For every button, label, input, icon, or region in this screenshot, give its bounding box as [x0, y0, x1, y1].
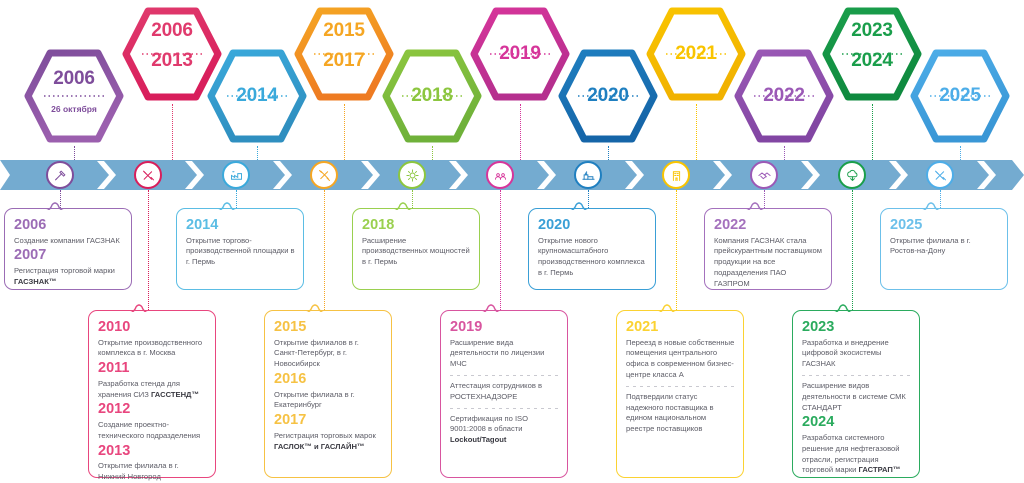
hexagon-outline	[650, 11, 742, 97]
card-2018[interactable]: 2018Расширение производственных мощносте…	[352, 208, 480, 290]
card-2014[interactable]: 2014Открытие торгово-производственной пл…	[176, 208, 304, 290]
card-year: 2007	[14, 247, 123, 264]
hexagon-2006[interactable]: 200626 октября	[22, 46, 126, 146]
card-text: Открытие филиала в г. Ростов-на-Дону	[890, 236, 999, 258]
card-notch	[744, 202, 766, 210]
card-year: 2025	[890, 217, 999, 234]
card-text: Разработка системного решение для нефтег…	[802, 433, 911, 476]
card-text: Подтвердили статус надежного поставщика …	[626, 392, 735, 435]
card-year: 2022	[714, 217, 823, 234]
card-year: 2014	[186, 217, 295, 234]
card-2010[interactable]: 2010Открытие производственного комплекса…	[88, 310, 216, 478]
connector-node-to-card	[500, 190, 501, 310]
node-2021[interactable]	[662, 161, 690, 189]
card-notch	[480, 304, 502, 312]
card-text: Расширение видов деятельности в системе …	[802, 381, 911, 413]
card-year: 2006	[14, 217, 123, 234]
hexagon-outline	[562, 53, 654, 139]
card-year: 2019	[450, 319, 559, 336]
card-year: 2018	[362, 217, 471, 234]
handshake-icon	[757, 168, 772, 183]
plant-icon	[581, 168, 596, 183]
card-text: Сертификация по ISO 9001:2008 в области …	[450, 414, 559, 446]
card-2025[interactable]: 2025Открытие филиала в г. Ростов-на-Дону	[880, 208, 1008, 290]
people-icon	[493, 168, 508, 183]
card-text: Создание компании ГАСЗНАК	[14, 236, 123, 247]
wrench-icon	[317, 168, 332, 183]
card-year: 2011	[98, 360, 207, 377]
card-2006[interactable]: 2006Создание компании ГАСЗНАК2007Регистр…	[4, 208, 132, 290]
card-divider	[450, 375, 559, 376]
hexagon-outline	[386, 53, 478, 139]
card-year: 2017	[274, 412, 383, 429]
card-notch	[304, 304, 326, 312]
node-2018[interactable]	[398, 161, 426, 189]
card-year: 2012	[98, 401, 207, 418]
connector-node-to-card	[852, 190, 853, 310]
node-2022[interactable]	[750, 161, 778, 189]
card-text: Разработка стенда для хранения СИЗ ГАССТ…	[98, 379, 207, 401]
card-year: 2015	[274, 319, 383, 336]
node-2014[interactable]	[222, 161, 250, 189]
card-year: 2016	[274, 371, 383, 388]
hexagon-outline	[211, 53, 303, 139]
card-notch	[392, 202, 414, 210]
tools-icon	[141, 168, 156, 183]
tools2-icon	[933, 168, 948, 183]
hexagon-2025[interactable]: 2025	[908, 46, 1012, 146]
card-text: Регистрация торговых марок ГАСЛОК™ и ГАС…	[274, 431, 383, 453]
card-year: 2021	[626, 319, 735, 336]
card-2023[interactable]: 2023Разработка и внедрение цифровой экос…	[792, 310, 920, 478]
connector-hex-to-node	[257, 146, 258, 160]
hammer-icon	[53, 168, 68, 183]
card-text: Открытие филиала в г. Екатеринбург	[274, 390, 383, 412]
hexagon-outline	[298, 11, 390, 97]
card-2015[interactable]: 2015Открытие филиалов в г. Санкт-Петербу…	[264, 310, 392, 478]
node-2023[interactable]	[838, 161, 866, 189]
node-2025[interactable]	[926, 161, 954, 189]
card-text: Расширение производственных мощностей в …	[362, 236, 471, 268]
hexagon-outline	[738, 53, 830, 139]
node-2015[interactable]	[310, 161, 338, 189]
card-notch	[44, 202, 66, 210]
card-divider	[802, 375, 911, 376]
factory-icon	[229, 168, 244, 183]
card-text: Разработка и внедрение цифровой экосисте…	[802, 338, 911, 370]
card-notch	[832, 304, 854, 312]
timeline-infographic: 200626 октября20062013201420152017201820…	[0, 0, 1024, 483]
card-text: Компания ГАСЗНАК стала прейскурантным по…	[714, 236, 823, 290]
connector-hex-to-node	[520, 104, 521, 160]
card-divider	[450, 408, 559, 409]
connector-hex-to-node	[172, 104, 173, 160]
card-year: 2013	[98, 443, 207, 460]
gear-icon	[405, 168, 420, 183]
connector-hex-to-node	[784, 146, 785, 160]
card-text: Открытие нового крупномасштабного произв…	[538, 236, 647, 279]
node-2006[interactable]	[46, 161, 74, 189]
connector-hex-to-node	[960, 146, 961, 160]
node-2020[interactable]	[574, 161, 602, 189]
card-notch	[656, 304, 678, 312]
node-2010[interactable]	[134, 161, 162, 189]
card-text: Переезд в новые собственные помещения це…	[626, 338, 735, 381]
card-2021[interactable]: 2021Переезд в новые собственные помещени…	[616, 310, 744, 478]
card-text: Открытие филиала в г. Нижний Новгород	[98, 461, 207, 483]
card-2022[interactable]: 2022Компания ГАСЗНАК стала прейскурантны…	[704, 208, 832, 290]
card-year: 2023	[802, 319, 911, 336]
card-notch	[920, 202, 942, 210]
connector-hex-to-node	[872, 104, 873, 160]
card-year: 2024	[802, 414, 911, 431]
card-text: Открытие производственного комплекса в г…	[98, 338, 207, 360]
connector-node-to-card	[148, 190, 149, 310]
connector-hex-to-node	[344, 104, 345, 160]
card-year: 2010	[98, 319, 207, 336]
card-notch	[128, 304, 150, 312]
connector-hex-to-node	[432, 146, 433, 160]
card-text: Аттестация сотрудников в РОСТЕХНАДЗОРЕ	[450, 381, 559, 403]
connector-node-to-card	[324, 190, 325, 310]
card-text: Расширение вида деятельности по лицензии…	[450, 338, 559, 370]
hexagon-outline	[474, 11, 566, 97]
hexagon-subtitle: 26 октября	[22, 104, 126, 114]
card-notch	[216, 202, 238, 210]
connector-hex-to-node	[696, 104, 697, 160]
connector-node-to-card	[676, 190, 677, 310]
office-icon	[669, 168, 684, 183]
connector-hex-to-node	[608, 146, 609, 160]
card-divider	[626, 386, 735, 387]
connector-hex-to-node	[74, 146, 75, 160]
hexagon-outline	[914, 53, 1006, 139]
card-text: Создание проектно-технического подраздел…	[98, 420, 207, 442]
card-2019[interactable]: 2019Расширение вида деятельности по лице…	[440, 310, 568, 478]
node-2019[interactable]	[486, 161, 514, 189]
card-year: 2020	[538, 217, 647, 234]
hexagon-outline	[826, 11, 918, 97]
card-notch	[568, 202, 590, 210]
card-text: Открытие филиалов в г. Санкт-Петербург, …	[274, 338, 383, 370]
cloud-icon	[845, 168, 860, 183]
card-text: Открытие торгово-производственной площад…	[186, 236, 295, 268]
card-text: Регистрация торговой марки ГАСЗНАК™	[14, 266, 123, 288]
card-2020[interactable]: 2020Открытие нового крупномасштабного пр…	[528, 208, 656, 290]
hexagon-outline	[28, 53, 120, 139]
